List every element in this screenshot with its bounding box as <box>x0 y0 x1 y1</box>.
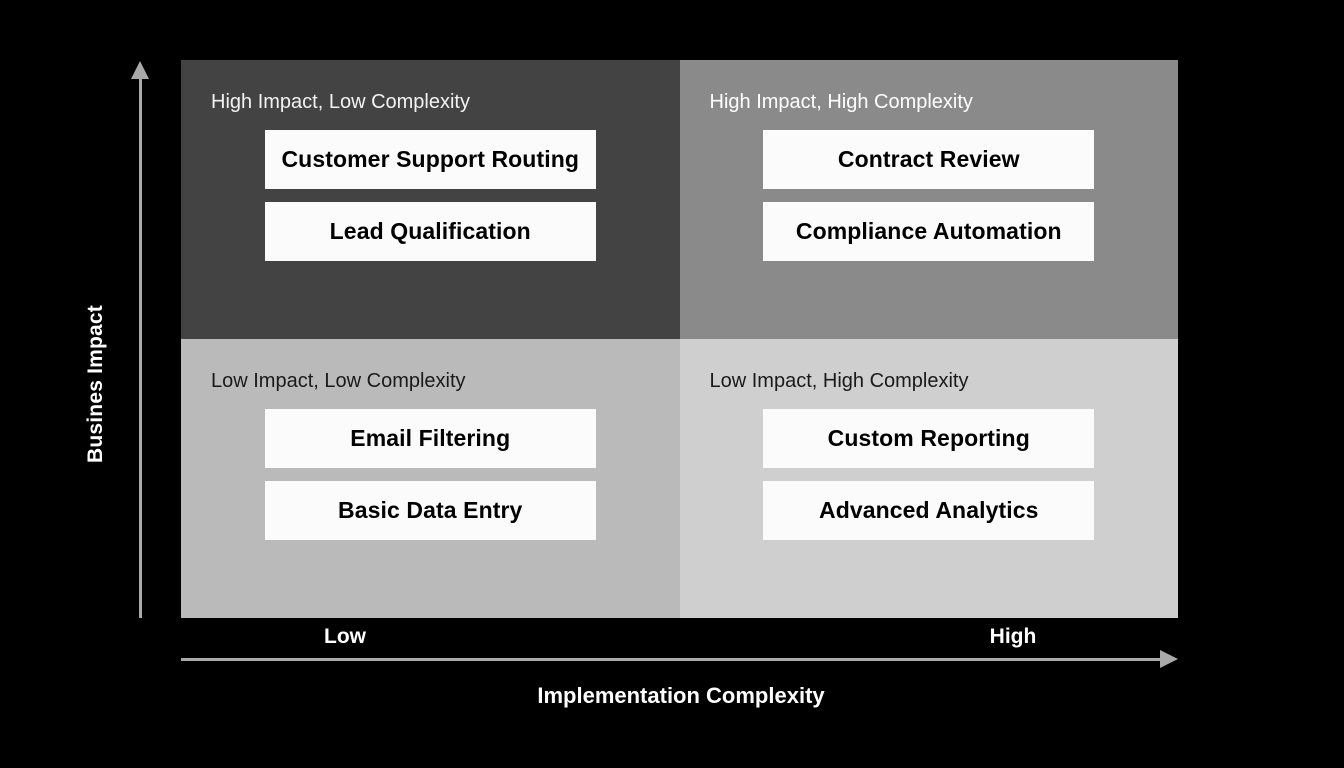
initiative-card[interactable]: Lead Qualification <box>265 202 596 261</box>
y-axis-label-group: Busines Impact <box>78 0 114 768</box>
quadrant-high-impact-low-complexity[interactable]: High Impact, Low Complexity Customer Sup… <box>181 60 680 339</box>
quadrant-matrix: High Impact, Low Complexity Customer Sup… <box>181 60 1178 618</box>
initiative-card[interactable]: Contract Review <box>763 130 1094 189</box>
quadrant-low-impact-high-complexity[interactable]: Low Impact, High Complexity Custom Repor… <box>680 339 1179 618</box>
card-stack: Custom Reporting Advanced Analytics <box>710 409 1149 540</box>
card-stack: Email Filtering Basic Data Entry <box>211 409 650 540</box>
quadrant-title: Low Impact, High Complexity <box>710 369 1149 393</box>
initiative-card[interactable]: Basic Data Entry <box>265 481 596 540</box>
y-axis-label: Busines Impact <box>78 0 114 768</box>
matrix-canvas: Busines Impact High Impact, Low Complexi… <box>0 0 1344 768</box>
card-stack: Customer Support Routing Lead Qualificat… <box>211 130 650 261</box>
initiative-card[interactable]: Customer Support Routing <box>265 130 596 189</box>
initiative-card[interactable]: Custom Reporting <box>763 409 1094 468</box>
x-axis-label: Implementation Complexity <box>181 683 1181 709</box>
arrow-right-icon <box>1160 650 1178 668</box>
quadrant-title: Low Impact, Low Complexity <box>211 369 650 393</box>
y-axis-line <box>139 78 142 618</box>
quadrant-high-impact-high-complexity[interactable]: High Impact, High Complexity Contract Re… <box>680 60 1179 339</box>
card-stack: Contract Review Compliance Automation <box>710 130 1149 261</box>
arrow-up-icon <box>131 61 149 79</box>
quadrant-title: High Impact, High Complexity <box>710 90 1149 114</box>
quadrant-title: High Impact, Low Complexity <box>211 90 650 114</box>
quadrant-low-impact-low-complexity[interactable]: Low Impact, Low Complexity Email Filteri… <box>181 339 680 618</box>
initiative-card[interactable]: Advanced Analytics <box>763 481 1094 540</box>
initiative-card[interactable]: Compliance Automation <box>763 202 1094 261</box>
initiative-card[interactable]: Email Filtering <box>265 409 596 468</box>
x-axis-tick-low: Low <box>324 625 366 649</box>
x-axis-line <box>181 658 1166 661</box>
x-axis-tick-high: High <box>990 625 1037 649</box>
